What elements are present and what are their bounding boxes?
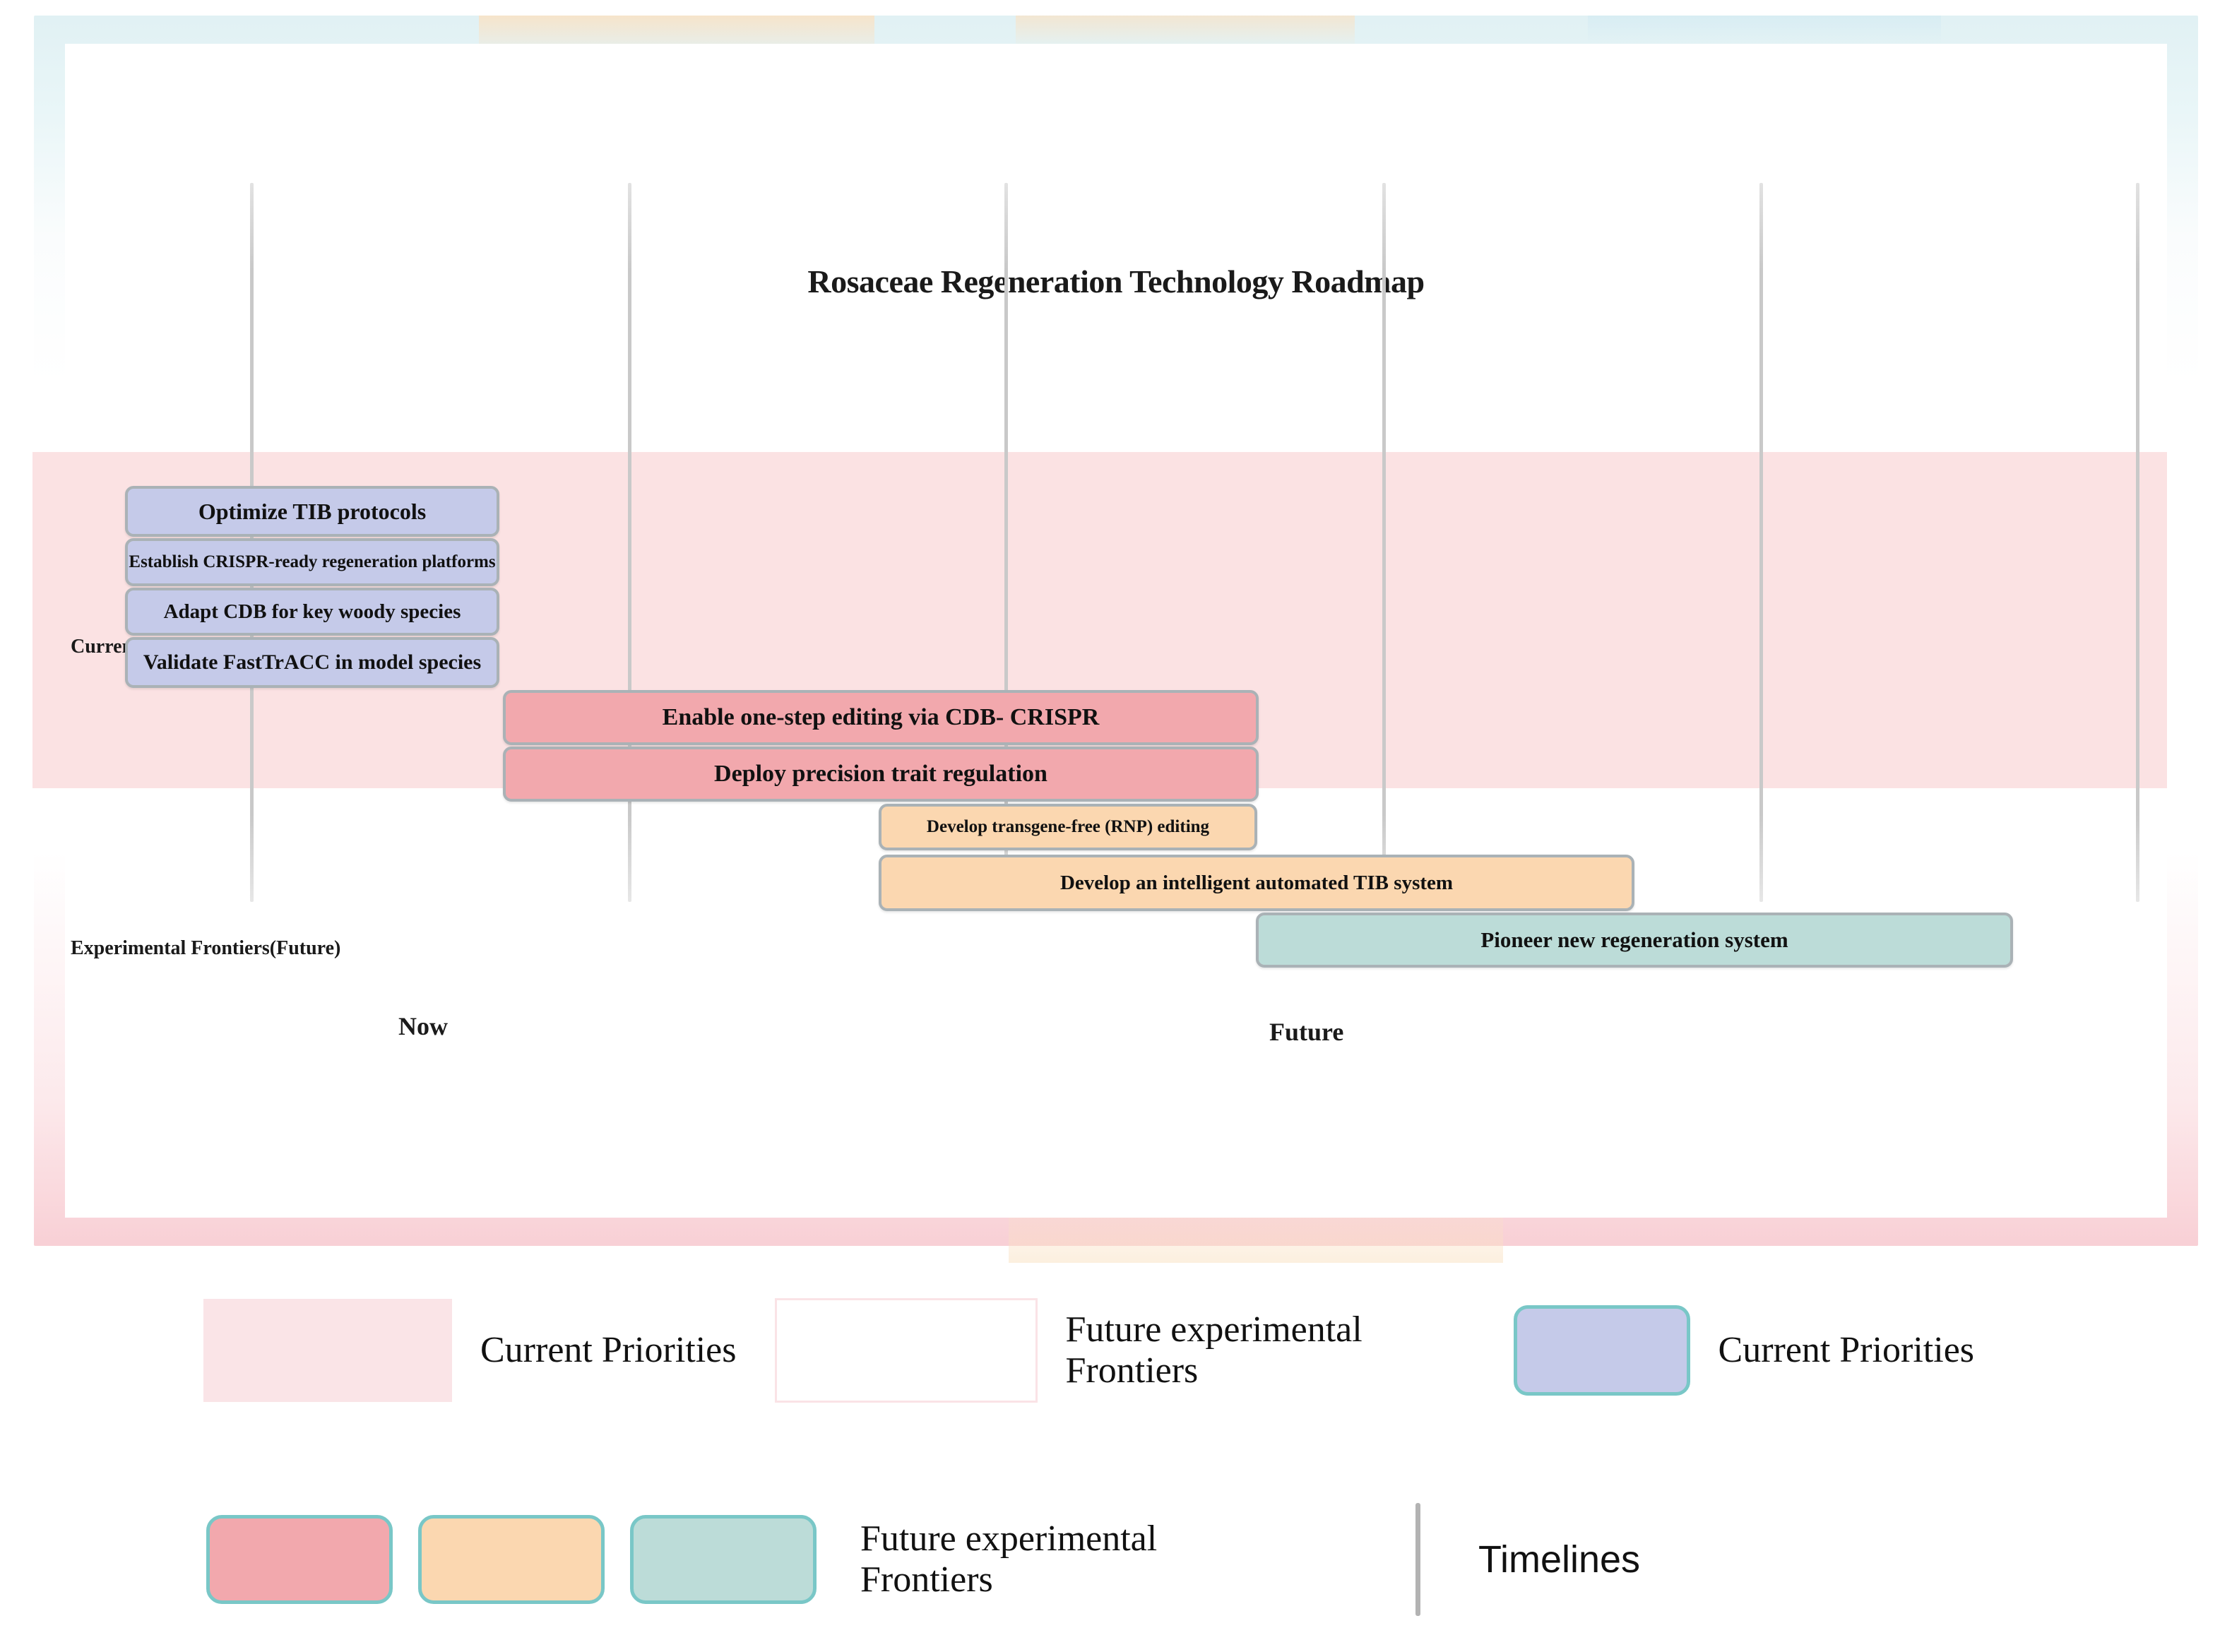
legend-row-1: Current Priorities Future experimental F…: [203, 1298, 1974, 1403]
legend-item-future-orange[interactable]: [418, 1515, 605, 1604]
task-bar-label: Validate FastTrACC in model species: [136, 650, 488, 675]
axis-tick-now: Now: [398, 1011, 448, 1041]
task-bar-optimize-tib-protocols[interactable]: Optimize TIB protocols: [125, 486, 499, 537]
task-bar-label: Establish CRISPR-ready regeneration plat…: [121, 552, 502, 572]
bar-red-swatch: [206, 1515, 393, 1604]
page-title: Rosaceae Regeneration Technology Roadmap: [65, 263, 2167, 300]
legend-item-future-frontiers-band[interactable]: Future experimental Frontiers: [775, 1298, 1490, 1403]
task-bar-validate-fasttracc[interactable]: Validate FastTrACC in model species: [125, 637, 499, 688]
gridline-4: [1759, 183, 1763, 902]
task-bar-label: Deploy precision trait regulation: [707, 761, 1055, 788]
task-bar-label: Adapt CDB for key woody species: [157, 600, 468, 624]
legend-row-2: Future experimental Frontiers Timelines: [206, 1503, 1640, 1616]
bar-teal-swatch: [630, 1515, 817, 1604]
task-bar-develop-transgene-free-rnp-editing[interactable]: Develop transgene-free (RNP) editing: [879, 804, 1257, 850]
legend-item-future-teal[interactable]: Future experimental Frontiers: [630, 1515, 1284, 1604]
timeline-line-swatch: [1415, 1503, 1420, 1616]
row-label-experimental-frontiers: Experimental Frontiers(Future): [71, 937, 340, 960]
legend-item-future-red[interactable]: [206, 1515, 393, 1604]
frame-tint-blue-right: [1588, 16, 1941, 44]
legend-label: Future experimental Frontiers: [1066, 1309, 1490, 1391]
task-bar-enable-one-step-editing[interactable]: Enable one-step editing via CDB- CRISPR: [503, 690, 1259, 745]
legend-label: Current Priorities: [480, 1330, 737, 1371]
task-bar-label: Optimize TIB protocols: [191, 499, 433, 525]
task-bar-label: Develop an intelligent automated TIB sys…: [1053, 872, 1460, 895]
gridline-5: [2136, 183, 2139, 902]
legend-label: Current Priorities: [1718, 1330, 1975, 1371]
task-bar-label: Develop transgene-free (RNP) editing: [920, 817, 1216, 837]
roadmap-chart-root: Rosaceae Regeneration Technology Roadmap…: [0, 0, 2232, 1652]
task-bar-adapt-cdb-woody-species[interactable]: Adapt CDB for key woody species: [125, 588, 499, 636]
task-bar-label: Pioneer new regeneration system: [1473, 927, 1795, 953]
axis-tick-future: Future: [1269, 1017, 1343, 1047]
legend-item-current-priorities-band[interactable]: Current Priorities: [203, 1299, 737, 1402]
legend-label: Timelines: [1478, 1538, 1640, 1581]
bar-orange-swatch: [418, 1515, 605, 1604]
legend-label: Future experimental Frontiers: [860, 1519, 1284, 1600]
band-white-swatch: [775, 1298, 1038, 1403]
task-bar-label: Enable one-step editing via CDB- CRISPR: [655, 704, 1107, 731]
task-bar-deploy-precision-trait-regulation[interactable]: Deploy precision trait regulation: [503, 747, 1259, 802]
legend-item-timelines[interactable]: Timelines: [1415, 1503, 1640, 1616]
bar-purple-swatch: [1514, 1305, 1690, 1396]
gridline-3: [1382, 183, 1386, 902]
plot-area: Rosaceae Regeneration Technology Roadmap…: [65, 44, 2167, 1218]
task-bar-pioneer-new-regeneration-system[interactable]: Pioneer new regeneration system: [1256, 913, 2013, 968]
legend: Current Priorities Future experimental F…: [0, 1271, 2232, 1639]
band-pink-swatch: [203, 1299, 452, 1402]
task-bar-develop-intelligent-automated-tib[interactable]: Develop an intelligent automated TIB sys…: [879, 855, 1634, 911]
legend-item-current-priorities-bar[interactable]: Current Priorities: [1514, 1305, 1975, 1396]
task-bar-establish-crispr-ready-platforms[interactable]: Establish CRISPR-ready regeneration plat…: [125, 538, 499, 586]
